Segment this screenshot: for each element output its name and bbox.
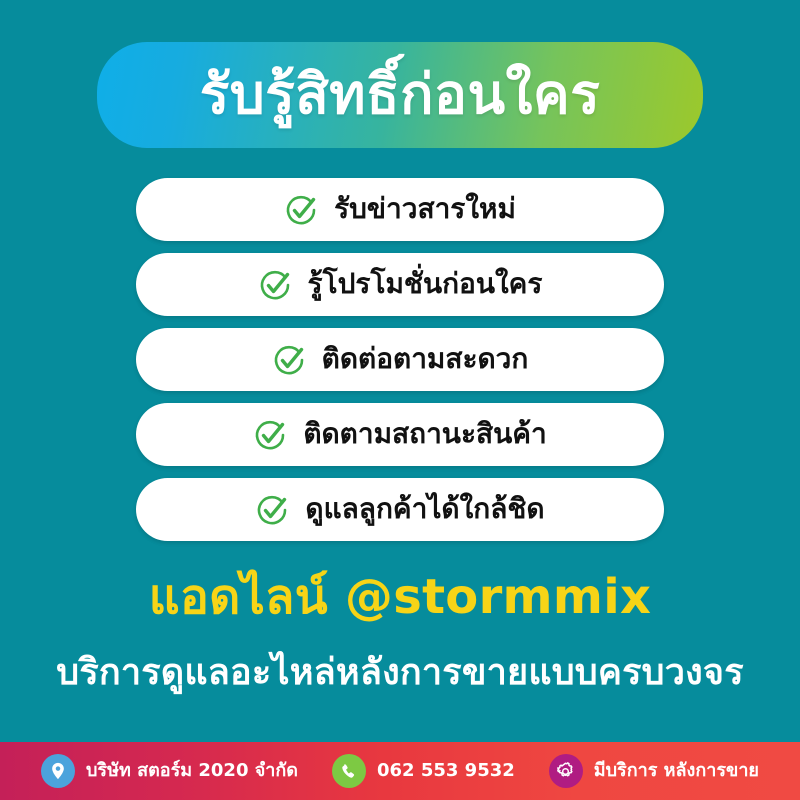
list-item[interactable]: รับข่าวสารใหม่ — [136, 178, 664, 241]
phone-icon — [332, 754, 366, 788]
header-banner: รับรู้สิทธิ์ก่อนใคร — [97, 42, 703, 148]
list-item-label: ดูแลลูกค้าได้ใกล้ชิด — [305, 494, 544, 525]
list-item-label: ติดต่อตามสะดวก — [322, 344, 529, 375]
circle-check-icon — [272, 343, 306, 377]
page-title: รับรู้สิทธิ์ก่อนใคร — [200, 66, 601, 124]
promo-poster: รับรู้สิทธิ์ก่อนใคร รับข่าวสารใหม่ — [0, 0, 800, 800]
circle-check-icon — [258, 268, 292, 302]
footer-item-label: บริษัท สตอร์ม 2020 จำกัด — [86, 761, 298, 781]
footer-item-company[interactable]: บริษัท สตอร์ม 2020 จำกัด — [41, 754, 298, 788]
footer-item-service[interactable]: มีบริการ หลังการขาย — [549, 754, 759, 788]
circle-check-icon — [255, 493, 289, 527]
list-item-label: ติดตามสถานะสินค้า — [303, 419, 546, 450]
benefits-list: รับข่าวสารใหม่ รู้โปรโมชั่นก่อนใคร — [136, 178, 664, 553]
list-item[interactable]: ติดตามสถานะสินค้า — [136, 403, 664, 466]
circle-check-icon — [253, 418, 287, 452]
gear-icon — [549, 754, 583, 788]
footer-contact-bar: บริษัท สตอร์ม 2020 จำกัด 062 553 9532 มี… — [0, 742, 800, 800]
circle-check-icon — [284, 193, 318, 227]
list-item-label: รับข่าวสารใหม่ — [334, 194, 516, 225]
service-tagline: บริการดูแลอะไหล่หลังการขายแบบครบวงจร — [0, 652, 800, 693]
line-id-cta: แอดไลน์ @stormmix — [0, 570, 800, 625]
location-pin-icon — [41, 754, 75, 788]
list-item[interactable]: ติดต่อตามสะดวก — [136, 328, 664, 391]
footer-item-label: มีบริการ หลังการขาย — [594, 761, 759, 781]
list-item-label: รู้โปรโมชั่นก่อนใคร — [308, 269, 543, 300]
list-item[interactable]: ดูแลลูกค้าได้ใกล้ชิด — [136, 478, 664, 541]
footer-item-phone[interactable]: 062 553 9532 — [332, 754, 515, 788]
list-item[interactable]: รู้โปรโมชั่นก่อนใคร — [136, 253, 664, 316]
footer-item-label: 062 553 9532 — [377, 761, 515, 781]
